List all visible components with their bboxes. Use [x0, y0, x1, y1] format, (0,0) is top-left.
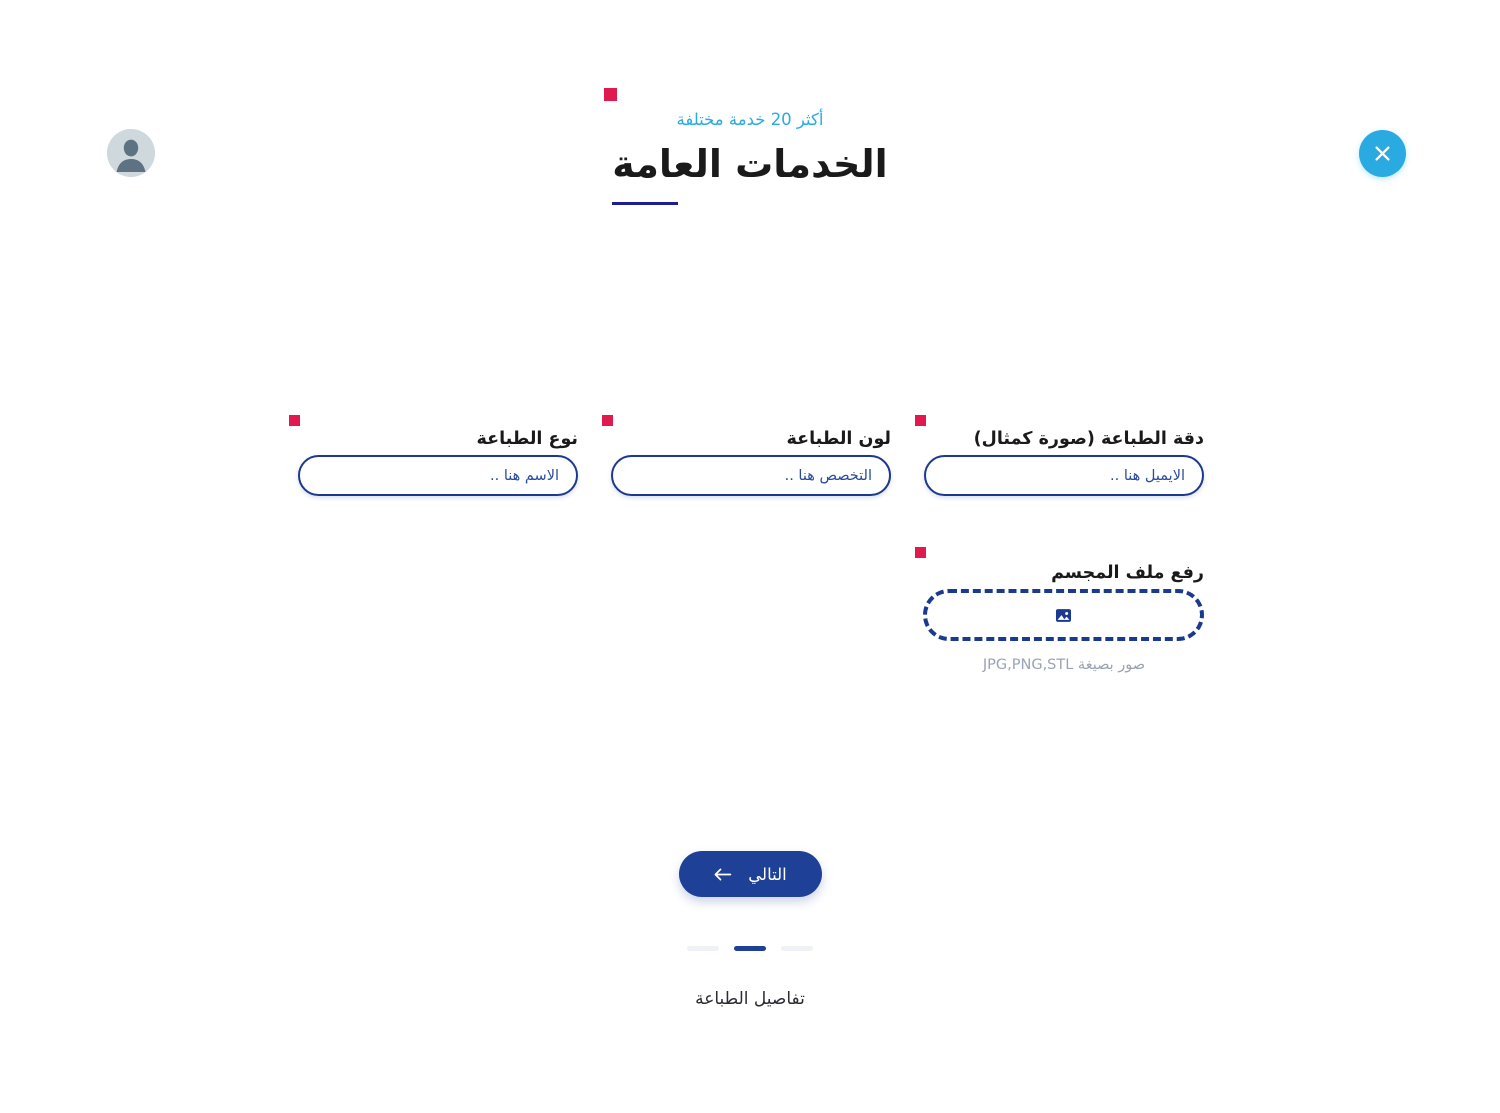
upload-header: رفع ملف المجسم — [924, 545, 1204, 589]
header-subtitle: أكثر 20 خدمة مختلفة — [612, 110, 887, 130]
field-label: لون الطباعة — [787, 429, 891, 450]
step-dot-1[interactable] — [781, 946, 813, 951]
form-row: دقة الطباعة (صورة كمثال) لون الطباعة نوع… — [296, 413, 1204, 496]
red-square-marker — [915, 547, 926, 558]
print-type-input[interactable] — [298, 455, 578, 496]
arrow-left-icon — [713, 867, 732, 882]
field-print-resolution: دقة الطباعة (صورة كمثال) — [924, 413, 1204, 496]
next-button-label: التالي — [748, 865, 786, 884]
page-title: الخدمات العامة — [612, 141, 887, 189]
print-color-input[interactable] — [611, 455, 891, 496]
next-button-wrap: التالي — [0, 851, 1500, 897]
red-square-marker — [604, 88, 617, 101]
step-dot-3[interactable] — [687, 946, 719, 951]
red-square-marker — [289, 415, 300, 426]
red-square-marker — [602, 415, 613, 426]
field-label: نوع الطباعة — [477, 429, 579, 450]
upload-label: رفع ملف المجسم — [1051, 563, 1204, 583]
model-upload-block: رفع ملف المجسم صور بصيغة JPG,PNG,STL — [924, 545, 1204, 673]
field-header: لون الطباعة — [611, 413, 891, 455]
page-header: أكثر 20 خدمة مختلفة الخدمات العامة — [0, 88, 1500, 205]
step-caption: تفاصيل الطباعة — [0, 989, 1500, 1009]
print-details-form: دقة الطباعة (صورة كمثال) لون الطباعة نوع… — [296, 413, 1204, 496]
title-underline — [612, 202, 678, 205]
field-print-type: نوع الطباعة — [298, 413, 578, 496]
print-resolution-input[interactable] — [924, 455, 1204, 496]
page-root: أكثر 20 خدمة مختلفة الخدمات العامة دقة ا… — [0, 0, 1500, 1113]
upload-format-hint: صور بصيغة JPG,PNG,STL — [924, 657, 1204, 673]
step-dot-2[interactable] — [734, 946, 766, 951]
red-square-marker — [915, 415, 926, 426]
file-dropzone[interactable] — [923, 589, 1204, 641]
field-label: دقة الطباعة (صورة كمثال) — [974, 429, 1204, 450]
image-picture-icon — [1054, 606, 1073, 625]
field-header: نوع الطباعة — [298, 413, 578, 455]
next-button[interactable]: التالي — [679, 851, 822, 897]
step-indicator — [0, 946, 1500, 951]
field-header: دقة الطباعة (صورة كمثال) — [924, 413, 1204, 455]
field-print-color: لون الطباعة — [611, 413, 891, 496]
